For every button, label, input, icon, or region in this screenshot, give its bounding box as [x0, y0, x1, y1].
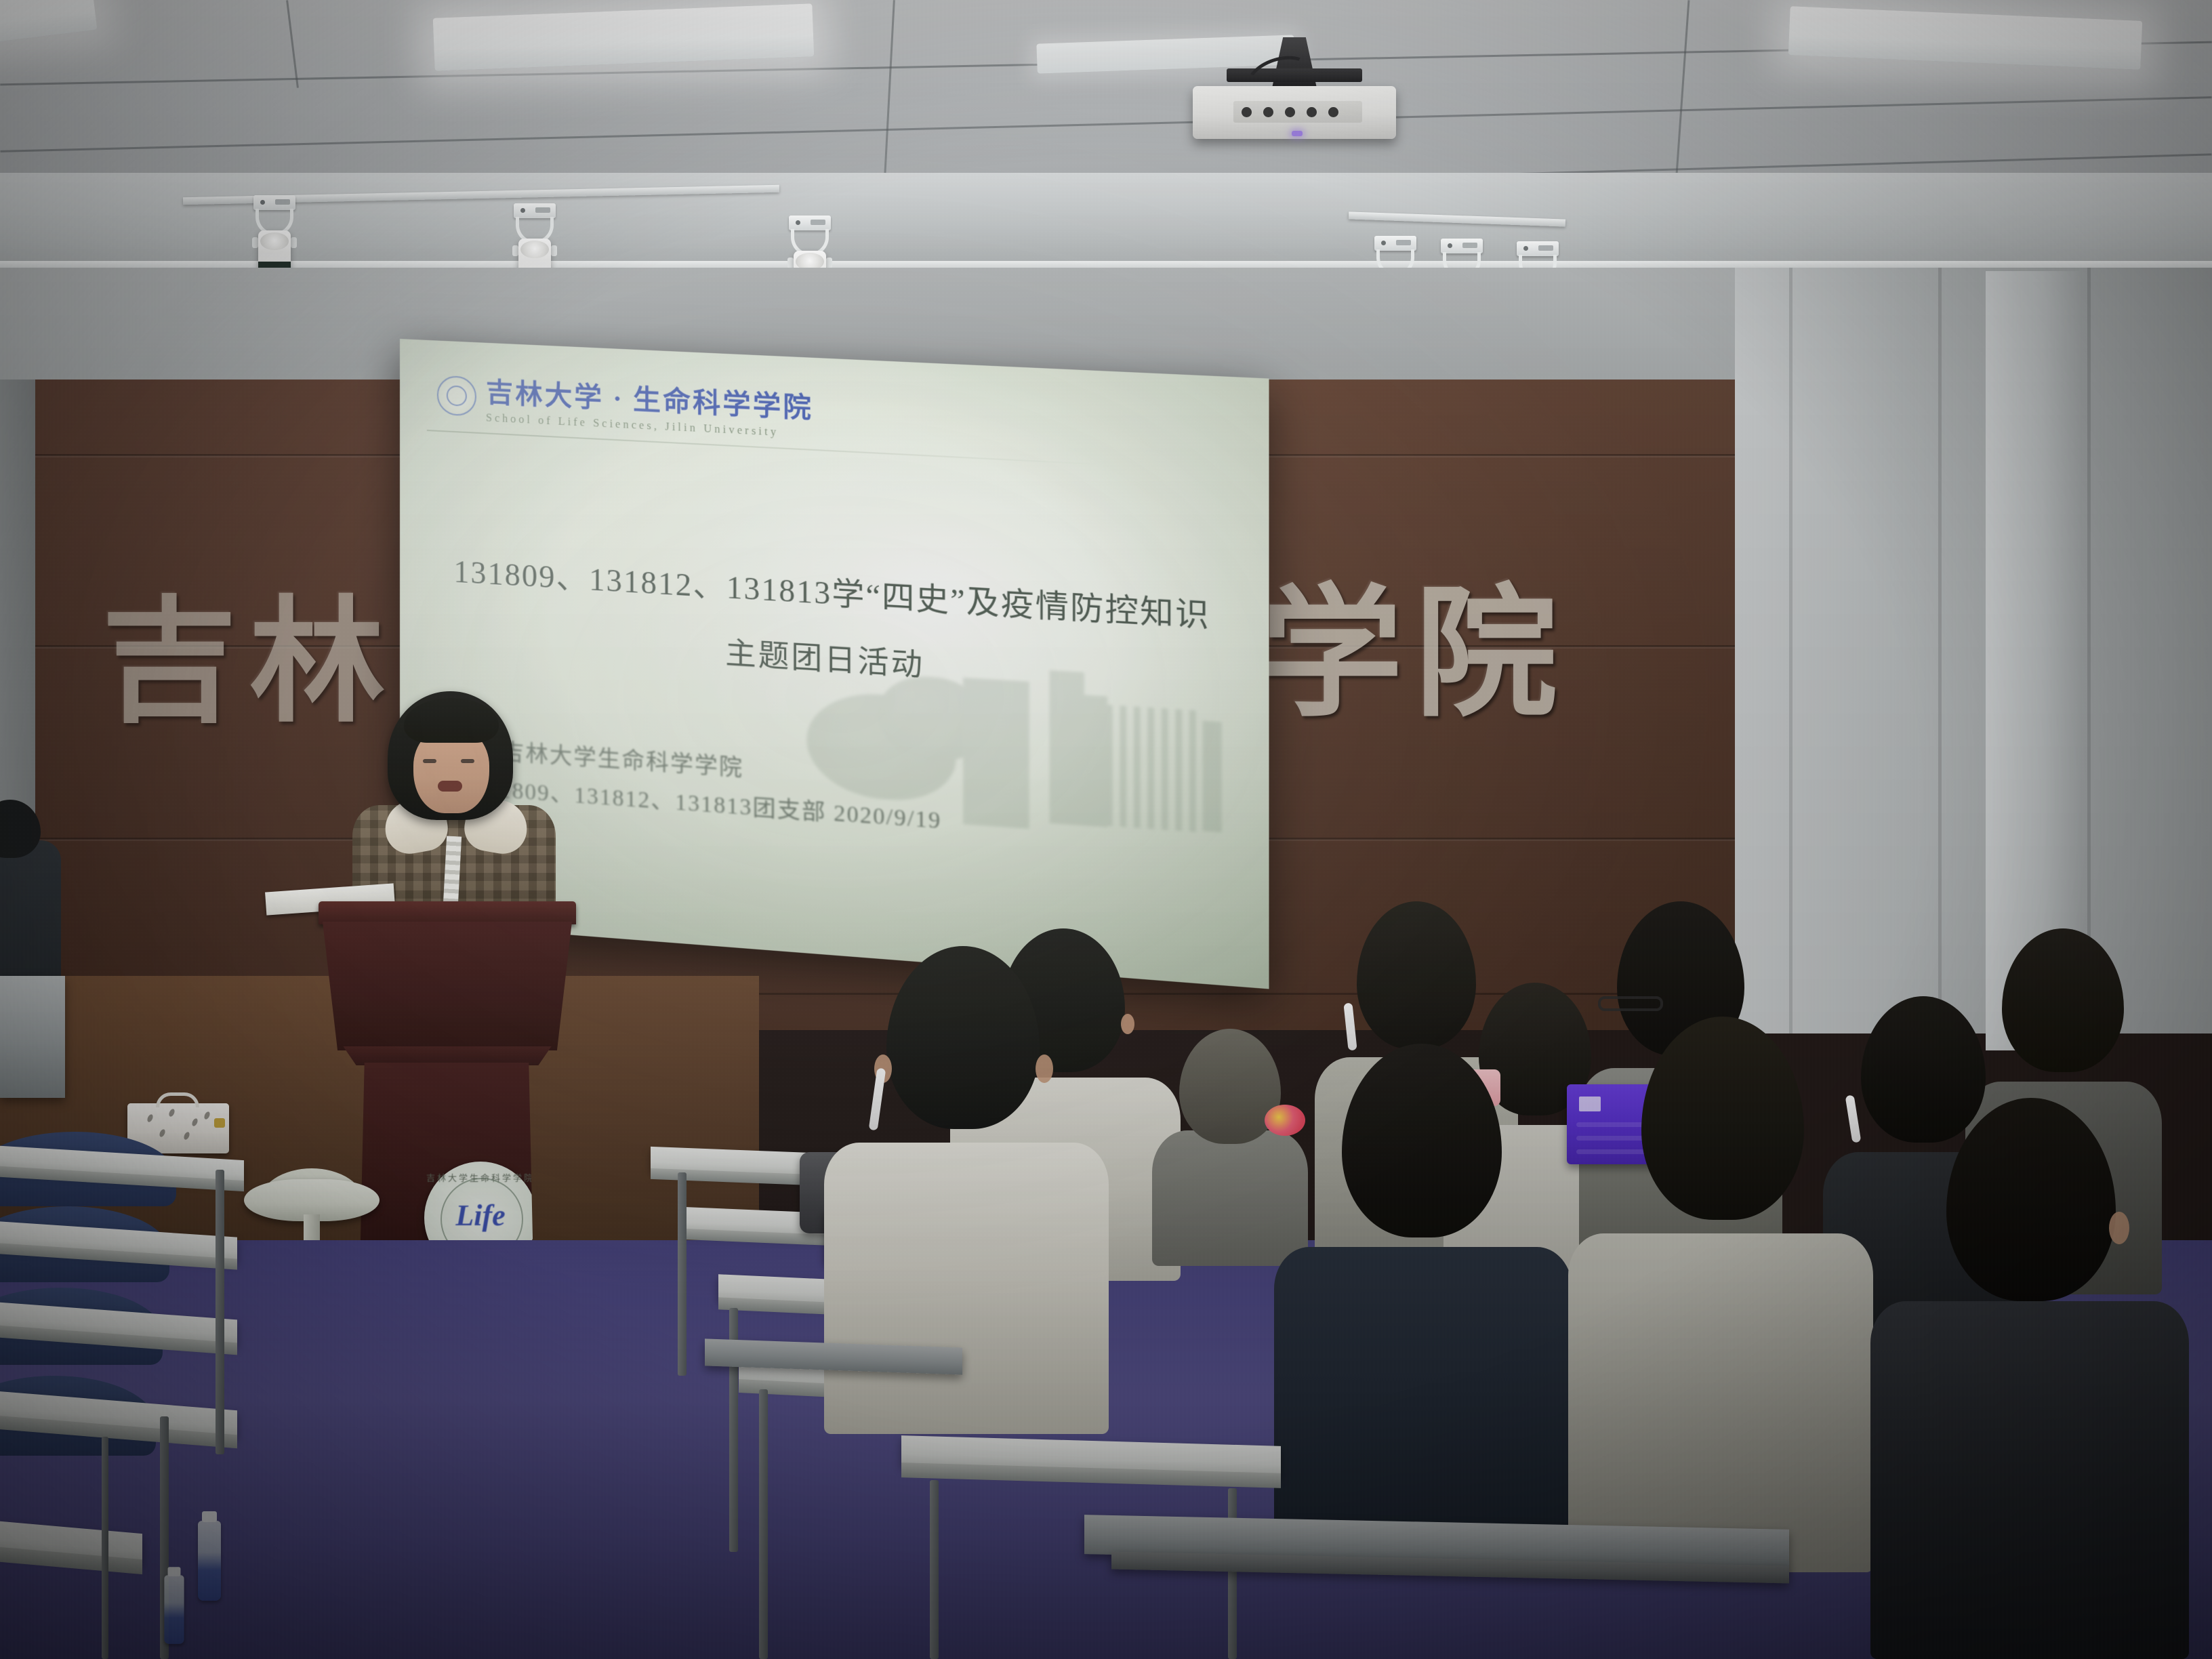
projector-port-panel: [1233, 101, 1362, 123]
lectern-shelf: [339, 1046, 556, 1065]
desk-leg: [216, 1170, 224, 1454]
audience-member: [1870, 1098, 2189, 1659]
person-head: [1179, 1029, 1281, 1144]
person-torso: [824, 1143, 1109, 1434]
desk-leg: [759, 1389, 768, 1659]
side-equipment-stand: [0, 976, 65, 1098]
person-head: [886, 946, 1040, 1129]
desk-leg: [930, 1480, 939, 1659]
wall-relief-right: 学院: [1261, 584, 1570, 726]
ceiling-soffit: [0, 173, 2212, 268]
desk-leg: [678, 1172, 687, 1376]
audience-member: [1274, 1044, 1572, 1559]
audience-member: [1568, 1017, 1873, 1572]
person-torso: [1274, 1247, 1572, 1559]
person-torso: [1568, 1233, 1873, 1572]
handbag-clasp: [214, 1118, 225, 1128]
water-bottle[interactable]: [164, 1575, 184, 1643]
eyeglasses: [1598, 996, 1663, 1011]
lectern-top: [319, 901, 576, 924]
person-head: [1946, 1098, 2116, 1301]
person-head: [1641, 1017, 1804, 1220]
slide-logo: 吉林大学 · 生命科学学院 School of Life Sciences, J…: [437, 368, 813, 441]
lectern-body: [323, 922, 572, 1050]
water-bottle[interactable]: [198, 1521, 221, 1601]
emblem-wordmark: Life: [424, 1198, 537, 1233]
desk-leg: [1228, 1488, 1237, 1659]
person-head: [1342, 1044, 1502, 1237]
right-wall-panel: [1735, 268, 2212, 1033]
mask-strap: [869, 1068, 886, 1131]
presenter-mouth: [438, 781, 462, 792]
lecture-hall-photo: 吉林 学院 吉林大学 · 生命科学学院 School of Life Scien…: [0, 0, 2212, 1659]
desk-leg: [102, 1437, 108, 1659]
projector-indicator-led: [1292, 131, 1303, 136]
projector-icon: [1193, 37, 1396, 139]
emblem-ring-chinese: 吉林大学生命科学学院: [424, 1171, 537, 1184]
university-seal-icon: [437, 375, 476, 417]
person-torso: [1870, 1301, 2189, 1659]
